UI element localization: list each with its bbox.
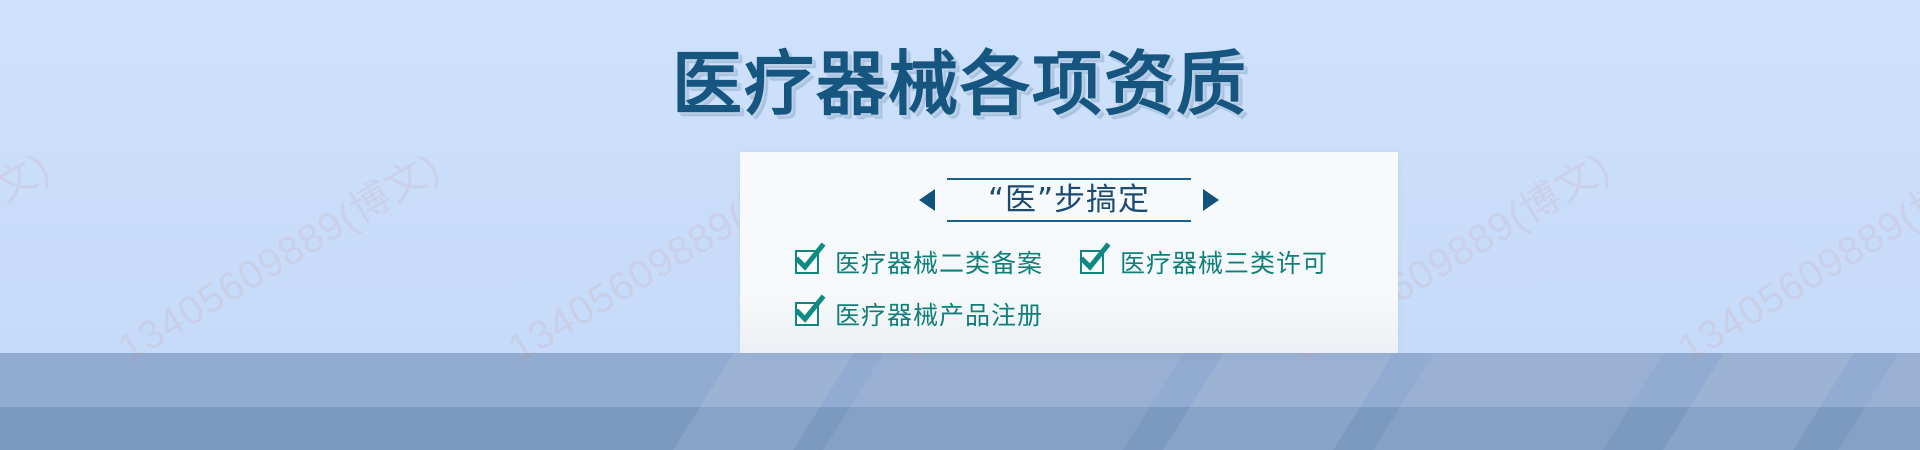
header-rule-bottom <box>947 220 1191 222</box>
background-band-bottom <box>0 407 1920 450</box>
list-item-label: 医疗器械二类备案 <box>835 244 1043 280</box>
list-item[interactable]: 医疗器械二类备案 <box>795 244 1080 280</box>
list-item[interactable]: 医疗器械产品注册 <box>795 296 1080 332</box>
card-title: “医”步搞定 <box>947 180 1191 220</box>
list-item-label: 医疗器械三类许可 <box>1120 244 1328 280</box>
checkbox-checked-icon[interactable] <box>795 302 819 326</box>
right-triangle-icon <box>1203 189 1219 211</box>
checkbox-checked-icon[interactable] <box>1080 250 1104 274</box>
qualification-checklist: 医疗器械二类备案 医疗器械三类许可 医疗器械产品注册 <box>795 244 1375 348</box>
left-triangle-icon <box>919 189 935 211</box>
card-header: “医”步搞定 <box>919 174 1219 226</box>
background-band-middle <box>0 353 1920 407</box>
list-item-label: 医疗器械产品注册 <box>835 296 1043 332</box>
banner-headline: 医疗器械各项资质 <box>0 28 1920 129</box>
checkbox-checked-icon[interactable] <box>795 250 819 274</box>
card-header-center: “医”步搞定 <box>947 174 1191 226</box>
headline-text: 医疗器械各项资质 <box>672 28 1248 129</box>
promotional-banner: 13405609889(博文) 13405609889(博文) 13405609… <box>0 0 1920 450</box>
qualification-card: “医”步搞定 医疗器械二类备案 医疗器械三 <box>740 152 1398 353</box>
list-item[interactable]: 医疗器械三类许可 <box>1080 244 1360 280</box>
